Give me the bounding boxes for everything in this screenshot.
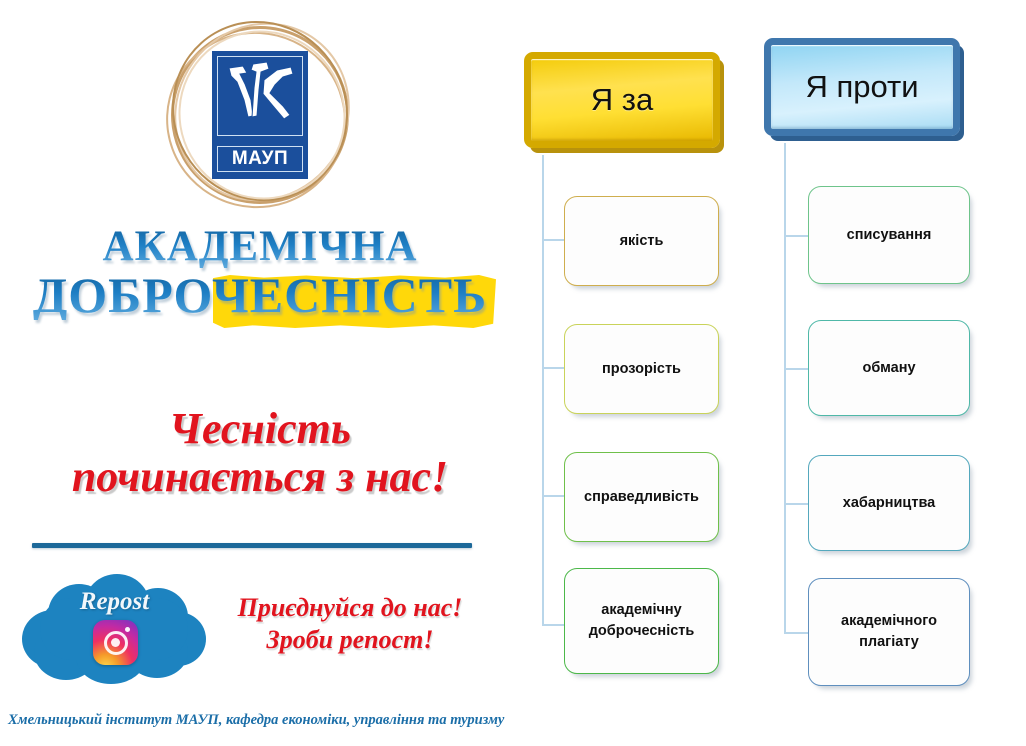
diagram-column-against: Я проти списування обману хабарництва ак… [758, 0, 1011, 746]
slogan-line-2: починається з нас! [0, 453, 520, 501]
page-title: АКАДЕМІЧНА ДОБРОЧЕСНІСТЬ [0, 225, 520, 320]
item-card-label: списування [847, 225, 932, 246]
header-plaque-for-label: Я за [591, 82, 653, 118]
diagram-column-for: Я за якість прозорість справедливість ак… [520, 0, 773, 746]
page-title-line-1: АКАДЕМІЧНА [0, 225, 520, 268]
item-card[interactable]: прозорість [564, 324, 719, 414]
instagram-icon-core [111, 638, 120, 647]
repost-label: Repost [22, 588, 207, 616]
item-card[interactable]: академічного плагіату [808, 578, 970, 686]
item-card-label: справедливість [584, 487, 699, 508]
logo-wordmark: МАУП [217, 146, 303, 172]
maup-logo: МАУП [165, 18, 355, 213]
item-card[interactable]: справедливість [564, 452, 719, 542]
item-card[interactable]: обману [808, 320, 970, 416]
instagram-icon-dot [125, 627, 130, 632]
item-card[interactable]: хабарництва [808, 455, 970, 551]
item-card-label: академічного плагіату [817, 611, 961, 652]
item-card[interactable]: академічну доброчесність [564, 568, 719, 674]
instagram-icon[interactable] [93, 620, 138, 665]
instagram-icon-ring [104, 631, 128, 655]
left-panel: МАУП АКАДЕМІЧНА ДОБРОЧЕСНІСТЬ Чесність п… [0, 0, 520, 746]
connector-trunk-for [542, 155, 544, 625]
repost-cloud: Repost [22, 572, 207, 684]
logo-shield: МАУП [212, 51, 308, 179]
item-card-label: хабарництва [843, 493, 935, 514]
call-to-action: Приєднуйся до нас! Зроби репост! [200, 592, 500, 655]
divider [32, 543, 472, 548]
call-to-action-line-2: Зроби репост! [200, 624, 500, 656]
item-card[interactable]: якість [564, 196, 719, 286]
diagram: Я за якість прозорість справедливість ак… [520, 0, 1026, 746]
connector-trunk-against [784, 143, 786, 633]
item-card-label: прозорість [602, 359, 681, 380]
page-title-line-2: ДОБРОЧЕСНІСТЬ [0, 270, 520, 320]
call-to-action-line-1: Приєднуйся до нас! [200, 592, 500, 624]
item-card-label: академічну доброчесність [573, 600, 710, 641]
header-plaque-for[interactable]: Я за [524, 52, 720, 148]
item-card[interactable]: списування [808, 186, 970, 284]
slogan-line-1: Чесність [0, 405, 520, 453]
logo-trident-glyph [217, 56, 303, 136]
item-card-label: якість [620, 231, 664, 252]
item-card-label: обману [862, 358, 915, 379]
header-plaque-against[interactable]: Я проти [764, 38, 960, 136]
slogan: Чесність починається з нас! [0, 405, 520, 500]
header-plaque-against-label: Я проти [805, 69, 918, 105]
